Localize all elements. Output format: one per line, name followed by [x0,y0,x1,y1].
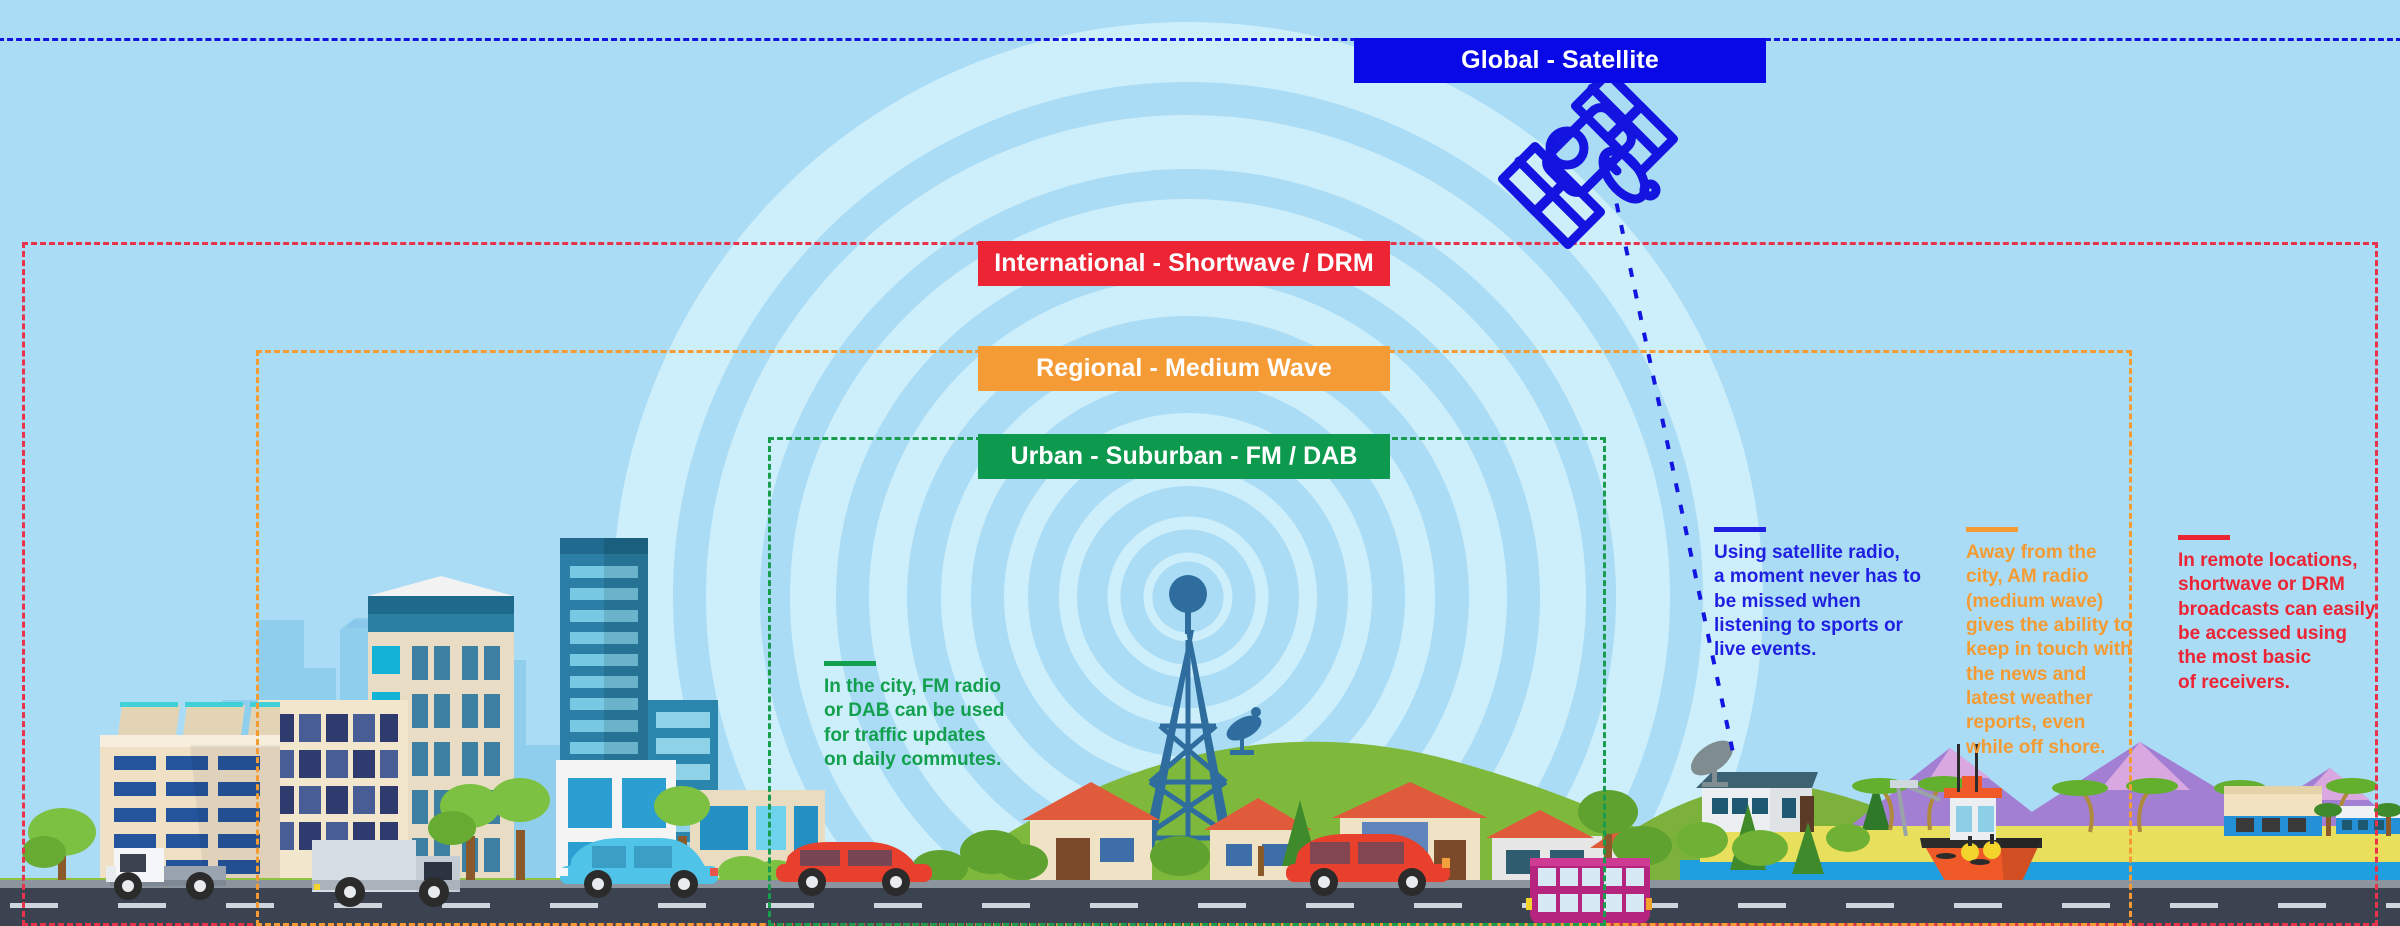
satellite-downlink-line [1612,182,1735,762]
banner-regional-medium-wave[interactable]: Regional - Medium Wave [978,346,1390,391]
banner-global-satellite[interactable]: Global - Satellite [1354,38,1766,83]
banner-international-shortwave[interactable]: International - Shortwave / DRM [978,241,1390,286]
note-rule-red [2178,535,2230,540]
note-rule-blue [1714,527,1766,532]
banner-urban-suburban-fm-dab[interactable]: Urban - Suburban - FM / DAB [978,434,1390,479]
note-satellite-radio: Using satellite radio, a moment never ha… [1714,527,1934,663]
note-remote-shortwave-text: In remote locations, shortwave or DRM br… [2178,549,2383,695]
satellite-icon [1502,73,1673,244]
note-satellite-radio-text: Using satellite radio, a moment never ha… [1714,541,1934,663]
note-am-medium-wave-text: Away from the city, AM radio (medium wav… [1966,541,2151,760]
note-city-fm-text: In the city, FM radio or DAB can be used… [824,675,1039,772]
note-rule-orange [1966,527,2018,532]
note-remote-shortwave: In remote locations, shortwave or DRM br… [2178,535,2383,695]
note-am-medium-wave: Away from the city, AM radio (medium wav… [1966,527,2151,760]
note-city-fm: In the city, FM radio or DAB can be used… [824,661,1039,772]
infographic-canvas: Global - Satellite International - Short… [0,0,2400,926]
note-rule-green [824,661,876,666]
